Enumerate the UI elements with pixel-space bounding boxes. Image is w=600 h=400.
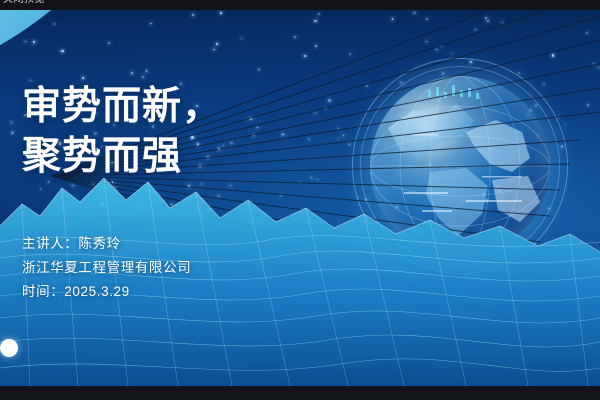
- slide-canvas[interactable]: 审势而新， 聚势而强 主讲人：陈秀玲 浙江华夏工程管理有限公司 时间：2025.…: [0, 10, 600, 386]
- presentation-window: 关闭预览: [0, 0, 600, 400]
- top-bar-label: 关闭预览: [3, 0, 45, 6]
- bullet-dot-marker: [0, 339, 18, 357]
- presenter-line: 主讲人：陈秀玲: [22, 232, 191, 256]
- presentation-bottom-bar[interactable]: [0, 386, 600, 400]
- presentation-top-bar[interactable]: 关闭预览: [0, 0, 600, 10]
- slide-byline: 主讲人：陈秀玲 浙江华夏工程管理有限公司 时间：2025.3.29: [22, 232, 191, 304]
- slide-title-line-1: 审势而新，: [22, 82, 222, 132]
- date-line: 时间：2025.3.29: [22, 280, 191, 304]
- slide-title: 审势而新， 聚势而强: [22, 82, 222, 182]
- slide-title-line-2: 聚势而强: [22, 132, 222, 182]
- company-line: 浙江华夏工程管理有限公司: [22, 256, 191, 280]
